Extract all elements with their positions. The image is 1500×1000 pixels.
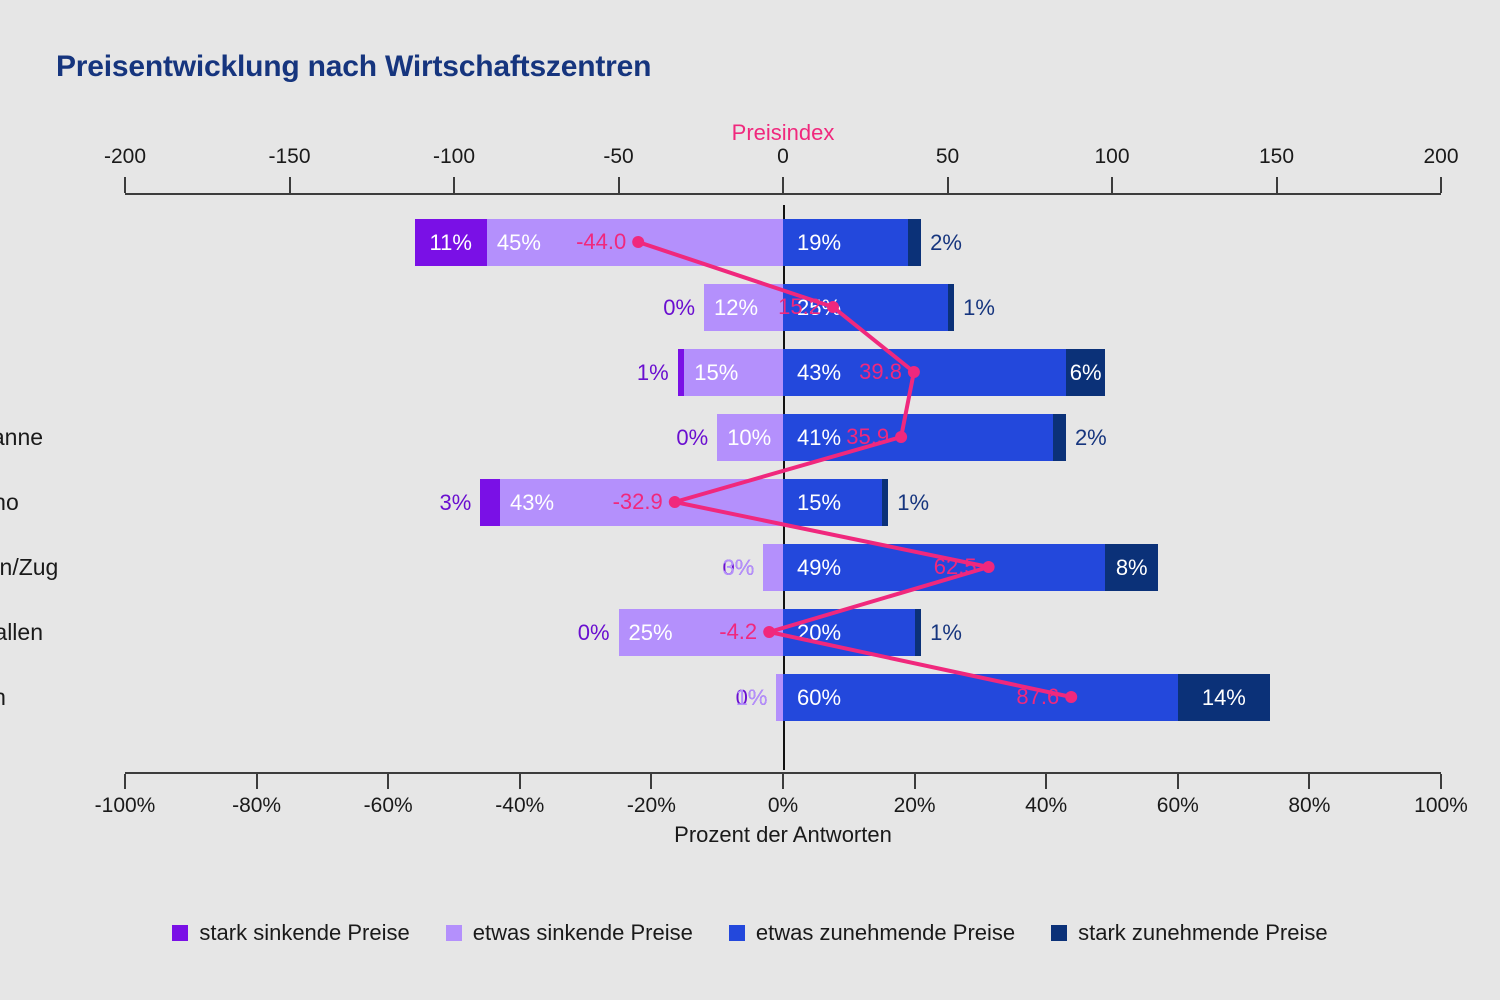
top-axis-tick <box>782 177 784 193</box>
bar-row: Zürich0%1%60%14% <box>125 665 1445 730</box>
row-label: Luzern/Zug <box>0 535 242 600</box>
bar-row: Luzern/Zug0%3%49%8% <box>125 535 1445 600</box>
top-axis-tick-label: -100 <box>433 145 475 169</box>
bar-row: Lugano3%43%15%1% <box>125 470 1445 535</box>
page-title: Preisentwicklung nach Wirtschaftszentren <box>56 50 651 84</box>
bar-segment-slight-increase: 41% <box>783 414 1053 461</box>
bottom-axis-tick <box>1045 774 1047 789</box>
legend-swatch-icon <box>1051 925 1067 941</box>
bottom-axis-tick-label: -80% <box>232 794 281 818</box>
top-axis-tick-label: 100 <box>1094 145 1129 169</box>
bottom-axis-tick-label: -20% <box>627 794 676 818</box>
legend-swatch-icon <box>446 925 462 941</box>
bar-segment-strong-increase: 8% <box>1105 544 1158 591</box>
bar-label-strong-increase: 2% <box>1066 414 1107 461</box>
bar-segment-strong-increase <box>1053 414 1066 461</box>
price-index-value-label: 15.2 <box>778 294 833 320</box>
bar-row: St. Gallen0%25%20%1% <box>125 600 1445 665</box>
bar-segment-slight-increase: 60% <box>783 674 1178 721</box>
legend-label: etwas sinkende Preise <box>473 920 693 946</box>
bar-label-strong-increase: 1% <box>888 479 929 526</box>
bar-row: Basel11%45%19%2% <box>125 210 1445 275</box>
bar-segment-slight-increase: 20% <box>783 609 915 656</box>
bar-label-strong-decrease: 0% <box>578 609 619 656</box>
chart-root: Preisentwicklung nach Wirtschaftszentren… <box>0 0 1500 1000</box>
bottom-axis-tick-label: 20% <box>894 794 936 818</box>
top-axis-title: Preisindex <box>732 120 835 146</box>
bottom-axis-tick <box>1440 774 1442 789</box>
bottom-axis-title: Prozent der Antworten <box>674 822 892 848</box>
top-axis-line <box>125 193 1441 195</box>
bar-label-strong-increase: 1% <box>921 609 962 656</box>
bar-segment-slight-increase: 15% <box>783 479 882 526</box>
price-index-value-label: -32.9 <box>613 489 675 515</box>
bar-segment-slight-decrease <box>776 674 783 721</box>
legend: stark sinkende Preiseetwas sinkende Prei… <box>0 920 1500 946</box>
bottom-axis-tick-label: 0% <box>768 794 798 818</box>
row-label: Lugano <box>0 470 242 535</box>
row-label: Bern <box>0 275 242 340</box>
legend-item[interactable]: etwas zunehmende Preise <box>729 920 1015 946</box>
price-index-value-label: -4.2 <box>719 619 769 645</box>
top-axis-tick-label: 0 <box>777 145 789 169</box>
bar-segment-slight-decrease: 12% <box>704 284 783 331</box>
bar-segment-strong-increase <box>882 479 889 526</box>
bar-label-strong-increase: 2% <box>921 219 962 266</box>
bar-label-strong-decrease: 3% <box>440 479 481 526</box>
bar-segment-slight-increase: 19% <box>783 219 908 266</box>
bar-segment-strong-decrease <box>678 349 685 396</box>
top-axis-tick-label: 150 <box>1259 145 1294 169</box>
bottom-axis-tick-label: -40% <box>495 794 544 818</box>
bottom-axis-tick <box>1308 774 1310 789</box>
bar-segment-strong-decrease: 11% <box>415 219 487 266</box>
bottom-axis-tick-label: 80% <box>1288 794 1330 818</box>
top-axis-tick <box>124 177 126 193</box>
bottom-axis-tick-label: 100% <box>1414 794 1468 818</box>
price-index-value-label: 62.5 <box>934 554 989 580</box>
price-index-value-label: -44.0 <box>576 229 638 255</box>
top-axis-tick-label: -200 <box>104 145 146 169</box>
top-axis-tick-label: -50 <box>603 145 633 169</box>
bar-row: Lausanne0%10%41%2% <box>125 405 1445 470</box>
row-label: Lausanne <box>0 405 242 470</box>
top-axis-tick <box>947 177 949 193</box>
bottom-axis-tick <box>914 774 916 789</box>
top-axis-tick-label: 50 <box>936 145 959 169</box>
row-label: St. Gallen <box>0 600 242 665</box>
top-axis-tick <box>618 177 620 193</box>
bar-segment-strong-increase <box>915 609 922 656</box>
row-label: Basel <box>0 210 242 275</box>
bar-segment-slight-decrease: 15% <box>684 349 783 396</box>
bottom-axis-tick <box>387 774 389 789</box>
top-axis-tick <box>1111 177 1113 193</box>
bar-segment-slight-decrease: 10% <box>717 414 783 461</box>
bottom-axis-tick <box>782 774 784 789</box>
legend-swatch-icon <box>729 925 745 941</box>
row-label: Genf <box>0 340 242 405</box>
bar-label-strong-decrease: 0% <box>676 414 717 461</box>
plot-area: Basel11%45%19%2%Bern0%12%25%1%Genf1%15%4… <box>125 205 1445 770</box>
bottom-axis-tick <box>650 774 652 789</box>
bar-segment-slight-decrease <box>763 544 783 591</box>
top-axis-tick <box>1440 177 1442 193</box>
price-index-value-label: 87.6 <box>1016 684 1071 710</box>
bar-segment-slight-increase: 43% <box>783 349 1066 396</box>
bar-segment-strong-decrease <box>480 479 500 526</box>
bottom-axis-tick <box>1177 774 1179 789</box>
bottom-axis-tick <box>124 774 126 789</box>
row-label: Zürich <box>0 665 242 730</box>
price-index-value-label: 35.9 <box>846 424 901 450</box>
bar-label-strong-increase: 1% <box>954 284 995 331</box>
bottom-axis-tick <box>256 774 258 789</box>
bottom-axis-tick-label: -100% <box>95 794 156 818</box>
bar-label-strong-decrease: 0% <box>663 284 704 331</box>
legend-item[interactable]: stark sinkende Preise <box>172 920 409 946</box>
legend-item[interactable]: stark zunehmende Preise <box>1051 920 1327 946</box>
bottom-axis-tick-label: -60% <box>364 794 413 818</box>
legend-label: etwas zunehmende Preise <box>756 920 1015 946</box>
legend-label: stark zunehmende Preise <box>1078 920 1327 946</box>
legend-item[interactable]: etwas sinkende Preise <box>446 920 693 946</box>
legend-swatch-icon <box>172 925 188 941</box>
legend-label: stark sinkende Preise <box>199 920 409 946</box>
bar-segment-strong-increase: 6% <box>1066 349 1105 396</box>
top-axis-tick-label: -150 <box>268 145 310 169</box>
price-index-value-label: 39.8 <box>859 359 914 385</box>
bar-label-strong-decrease: 1% <box>637 349 678 396</box>
top-axis-tick-label: 200 <box>1423 145 1458 169</box>
bar-segment-strong-increase <box>908 219 921 266</box>
top-axis-tick <box>1276 177 1278 193</box>
top-axis-tick <box>289 177 291 193</box>
bottom-axis-tick <box>519 774 521 789</box>
bar-row: Genf1%15%43%6% <box>125 340 1445 405</box>
top-axis-tick <box>453 177 455 193</box>
bar-label-slight-decrease: 3% <box>722 544 763 591</box>
bar-segment-strong-increase <box>948 284 955 331</box>
bottom-axis-tick-label: 40% <box>1025 794 1067 818</box>
bottom-axis-tick-label: 60% <box>1157 794 1199 818</box>
bar-segment-strong-increase: 14% <box>1178 674 1270 721</box>
bar-label-slight-decrease: 1% <box>736 674 777 721</box>
